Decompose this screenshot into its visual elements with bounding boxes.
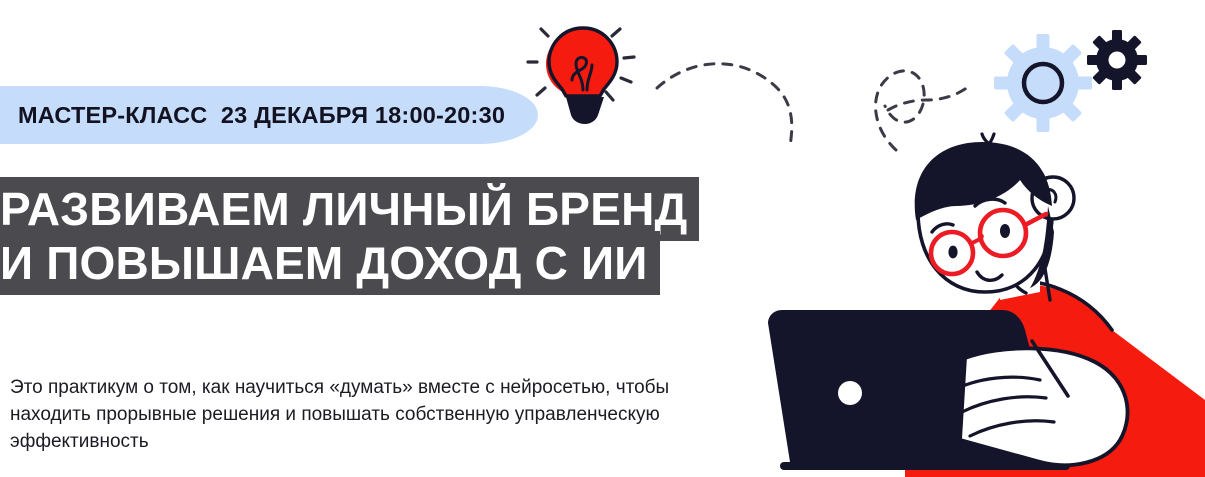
- gear-icon-small: [1087, 30, 1147, 90]
- headline-line-1: РАЗВИВАЕМ ЛИЧНЫЙ БРЕНД: [0, 183, 760, 235]
- dashed-arc: [657, 64, 792, 148]
- person-with-laptop-illustration: [768, 134, 1205, 477]
- dashed-loop: [876, 71, 925, 150]
- event-ribbon: МАСТЕР-КЛАСС 23 ДЕКАБРЯ 18:00-20:30: [0, 86, 538, 144]
- dashed-loop-tail: [888, 84, 972, 110]
- promo-banner: МАСТЕР-КЛАСС 23 ДЕКАБРЯ 18:00-20:30 РАЗВ…: [0, 0, 1205, 477]
- headline-line-2: И ПОВЫШАЕМ ДОХОД С ИИ: [0, 237, 760, 289]
- gear-icon-large: [994, 34, 1092, 132]
- event-ribbon-label: МАСТЕР-КЛАСС 23 ДЕКАБРЯ 18:00-20:30: [18, 102, 505, 129]
- lightbulb-icon: [528, 28, 634, 124]
- description-text: Это практикум о том, как научиться «дума…: [10, 374, 730, 455]
- page-title: РАЗВИВАЕМ ЛИЧНЫЙ БРЕНД И ПОВЫШАЕМ ДОХОД …: [0, 183, 760, 289]
